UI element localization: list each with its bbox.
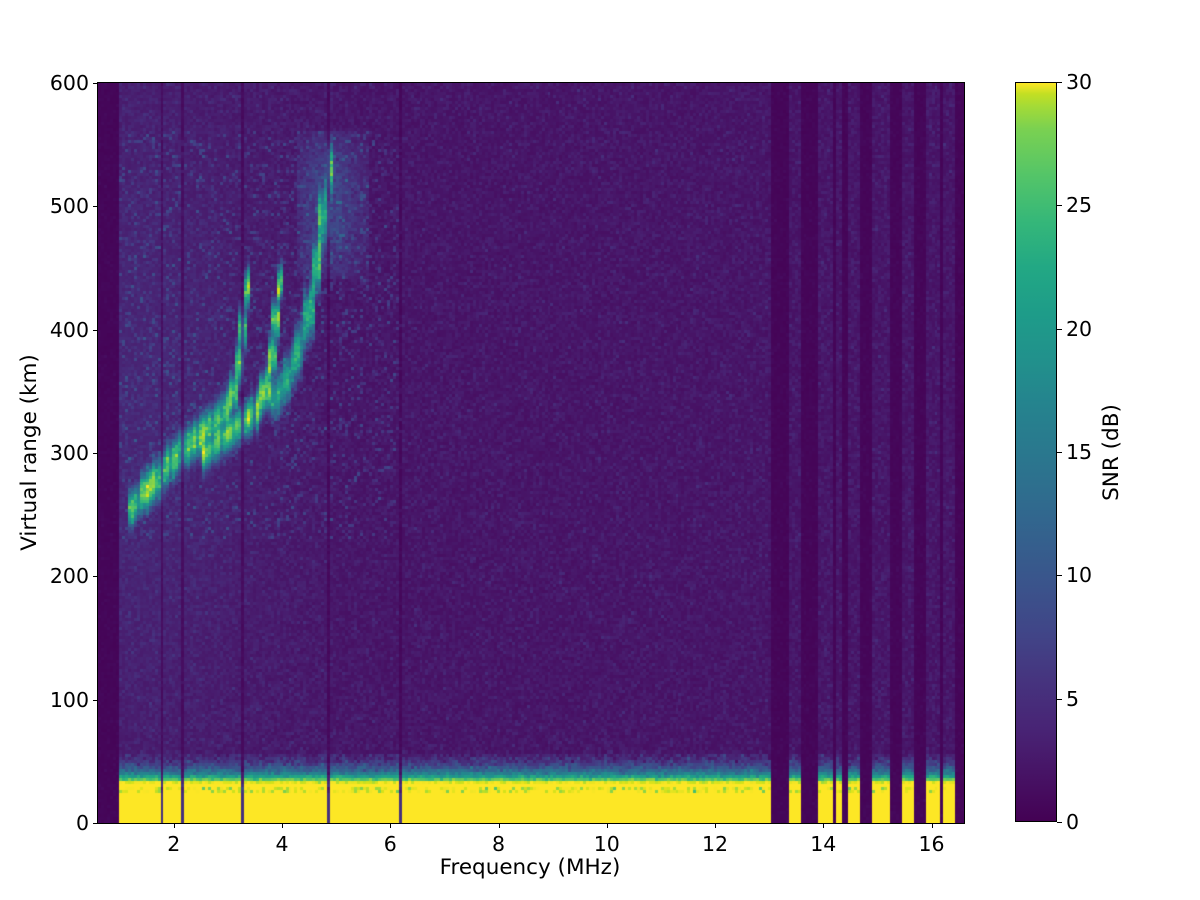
- y-tick-mark: [93, 453, 98, 454]
- y-tick-label-400: 400: [50, 318, 89, 342]
- y-tick-mark: [93, 330, 98, 331]
- colorbar-tick-label-0: 0: [1066, 810, 1079, 834]
- y-tick-mark: [93, 83, 98, 84]
- x-tick-label-10: 10: [594, 832, 620, 856]
- colorbar-axis-title: SNR (dB): [1098, 82, 1124, 822]
- x-tick-mark: [174, 823, 175, 828]
- colorbar-tick-mark: [1057, 575, 1062, 576]
- colorbar-tick-mark: [1057, 205, 1062, 206]
- x-tick-mark: [390, 823, 391, 828]
- y-axis-title: Virtual range (km): [16, 82, 42, 822]
- colorbar-tick-mark: [1057, 329, 1062, 330]
- y-tick-mark: [93, 823, 98, 824]
- x-tick-label-2: 2: [167, 832, 180, 856]
- x-tick-mark: [715, 823, 716, 828]
- colorbar-tick-label-5: 5: [1066, 687, 1079, 711]
- x-axis-title: Frequency (MHz): [97, 855, 963, 880]
- y-tick-label-0: 0: [76, 811, 89, 835]
- x-tick-label-14: 14: [810, 832, 836, 856]
- colorbar-tick-label-30: 30: [1066, 70, 1092, 94]
- colorbar-tick-mark: [1057, 82, 1062, 83]
- colorbar-tick-label-25: 25: [1066, 193, 1092, 217]
- colorbar-axis-title-label: SNR (dB): [1099, 404, 1124, 501]
- y-tick-mark: [93, 576, 98, 577]
- colorbar-tick-label-15: 15: [1066, 440, 1092, 464]
- x-tick-mark: [282, 823, 283, 828]
- y-tick-mark: [93, 700, 98, 701]
- colorbar-tick-mark: [1057, 452, 1062, 453]
- x-tick-label-4: 4: [275, 832, 288, 856]
- x-tick-mark: [932, 823, 933, 828]
- colorbar-tick-label-10: 10: [1066, 563, 1092, 587]
- plot-axes: 0100200300400500600246810121416: [97, 82, 965, 824]
- y-tick-label-600: 600: [50, 71, 89, 95]
- y-tick-label-200: 200: [50, 564, 89, 588]
- colorbar-tick-mark: [1057, 822, 1062, 823]
- x-tick-mark: [607, 823, 608, 828]
- x-tick-mark: [823, 823, 824, 828]
- y-tick-label-100: 100: [50, 688, 89, 712]
- x-tick-label-8: 8: [492, 832, 505, 856]
- y-tick-label-500: 500: [50, 194, 89, 218]
- x-tick-label-6: 6: [384, 832, 397, 856]
- x-tick-label-16: 16: [918, 832, 944, 856]
- x-tick-label-12: 12: [702, 832, 728, 856]
- colorbar-tick-mark: [1057, 699, 1062, 700]
- y-axis-title-label: Virtual range (km): [17, 354, 42, 551]
- ionogram-figure: IRF Kiruna Ionosonde KI167 2025-12-27 03…: [0, 0, 1200, 900]
- colorbar-gradient: [1015, 82, 1057, 822]
- colorbar: 051015202530: [1015, 82, 1057, 822]
- x-axis-title-label: Frequency (MHz): [440, 855, 621, 880]
- ionogram-heatmap: [98, 83, 964, 823]
- y-tick-label-300: 300: [50, 441, 89, 465]
- colorbar-tick-label-20: 20: [1066, 317, 1092, 341]
- x-tick-mark: [499, 823, 500, 828]
- y-tick-mark: [93, 206, 98, 207]
